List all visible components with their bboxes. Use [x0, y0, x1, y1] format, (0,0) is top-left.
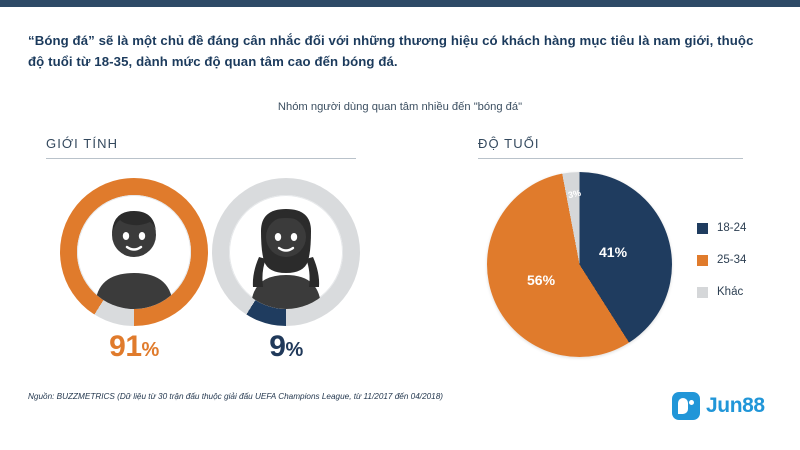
female-avatar-icon	[229, 195, 343, 309]
legend-label-25-34: 25-34	[717, 254, 746, 266]
legend-swatch-25-34	[697, 255, 708, 266]
male-percent-unit: %	[142, 339, 159, 361]
male-percent-number: 91	[109, 330, 141, 363]
female-percent-value: 9%	[206, 330, 366, 364]
legend-label-khac: Khác	[717, 286, 743, 298]
pie-label-25-34: 56%	[527, 272, 555, 288]
female-percent-unit: %	[285, 339, 302, 361]
female-donut-hole	[229, 195, 343, 309]
section-title-gender: GIỚI TÍNH	[46, 136, 118, 151]
slide-canvas: “Bóng đá” sẽ là một chủ đề đáng cân nhắc…	[0, 0, 800, 450]
female-percent-number: 9	[269, 330, 285, 363]
female-donut-chart	[212, 178, 360, 326]
age-pie-chart: 41% 56% 3%	[487, 172, 672, 357]
pie-label-18-24: 41%	[599, 244, 627, 260]
gender-male-figure: 91%	[60, 178, 208, 326]
male-percent-value: 91%	[54, 330, 214, 364]
legend-label-18-24: 18-24	[717, 222, 746, 234]
brand-logo[interactable]: Jun88	[672, 392, 765, 420]
gender-female-figure: 9%	[212, 178, 360, 326]
page-title: “Bóng đá” sẽ là một chủ đề đáng cân nhắc…	[28, 30, 768, 73]
legend-swatch-khac	[697, 287, 708, 298]
legend-swatch-18-24	[697, 223, 708, 234]
legend-item: Khác	[697, 286, 746, 298]
section-divider-gender	[46, 158, 356, 159]
age-pie-slices	[487, 172, 672, 357]
age-legend: 18-24 25-34 Khác	[697, 222, 746, 318]
male-avatar-icon	[77, 195, 191, 309]
male-donut-chart	[60, 178, 208, 326]
chat-bubble-icon	[672, 392, 700, 420]
brand-name: Jun88	[706, 394, 765, 418]
male-donut-hole	[77, 195, 191, 309]
section-title-age: ĐỘ TUỔI	[478, 136, 540, 151]
chart-subtitle: Nhóm người dùng quan tâm nhiều đến "bóng…	[0, 101, 800, 113]
section-divider-age	[478, 158, 743, 159]
source-note: Nguồn: BUZZMETRICS (Dữ liệu từ 30 trận đ…	[28, 392, 443, 401]
top-accent-bar	[0, 0, 800, 7]
legend-item: 25-34	[697, 254, 746, 266]
legend-item: 18-24	[697, 222, 746, 234]
